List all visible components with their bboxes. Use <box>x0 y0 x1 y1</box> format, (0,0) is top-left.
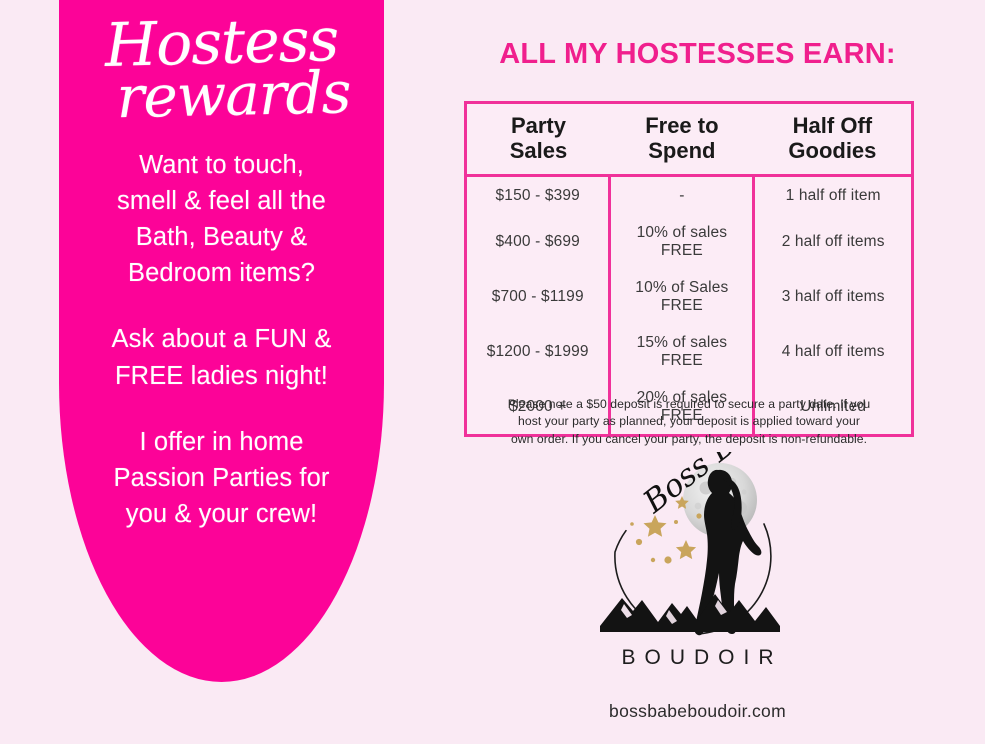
panel-paragraph-1-line-4: Bedroom items? <box>73 255 370 291</box>
earn-heading: ALL MY HOSTESSES EARN: <box>420 38 975 71</box>
panel-paragraph-3: I offer in home Passion Parties for you … <box>59 424 384 533</box>
pink-panel: Hostess rewards Want to touch, smell & f… <box>59 0 384 682</box>
table-row: $700 - $1199 10% of Sales FREE 3 half of… <box>467 269 911 324</box>
column-header-free-to-spend: Free to Spend <box>610 104 754 176</box>
column-header-free-to-spend-line2: Spend <box>612 138 752 163</box>
disclaimer-line-2: host your party as planned, your deposit… <box>458 413 920 430</box>
panel-paragraph-1: Want to touch, smell & feel all the Bath… <box>59 147 384 292</box>
cell-free-to-spend: - <box>610 176 754 215</box>
column-header-party-sales-line1: Party <box>469 113 608 138</box>
panel-paragraph-1-line-1: Want to touch, <box>73 147 370 183</box>
cell-half-off-goodies: 3 half off items <box>754 269 911 324</box>
logo-wordmark: BOUDOIR <box>420 646 975 670</box>
column-header-half-off-goodies-line1: Half Off <box>756 113 909 138</box>
table-row: $1200 - $1999 15% of sales FREE 4 half o… <box>467 324 911 379</box>
cell-party-sales: $150 - $399 <box>467 176 610 215</box>
table-row: $400 - $699 10% of sales FREE 2 half off… <box>467 214 911 269</box>
cell-free-to-spend: 10% of sales FREE <box>610 214 754 269</box>
hostess-rewards-poster: Hostess rewards Want to touch, smell & f… <box>0 0 985 744</box>
panel-paragraph-1-line-2: smell & feel all the <box>73 183 370 219</box>
right-column: ALL MY HOSTESSES EARN: Party Sales Free … <box>420 0 975 744</box>
disclaimer-line-1: Please note a $50 deposit is required to… <box>458 396 920 413</box>
cell-party-sales: $400 - $699 <box>467 214 610 269</box>
table-row: $150 - $399 - 1 half off item <box>467 176 911 215</box>
panel-paragraph-3-line-3: you & your crew! <box>73 496 370 532</box>
cell-half-off-goodies: 1 half off item <box>754 176 911 215</box>
cell-free-to-spend: 10% of Sales FREE <box>610 269 754 324</box>
panel-paragraph-3-line-2: Passion Parties for <box>73 460 370 496</box>
script-title-line2: rewards <box>70 66 384 126</box>
panel-paragraph-2: Ask about a FUN & FREE ladies night! <box>59 321 384 393</box>
cell-free-to-spend: 15% of sales FREE <box>610 324 754 379</box>
panel-paragraph-3-line-1: I offer in home <box>73 424 370 460</box>
disclaimer-line-3: own order. If you cancel your party, the… <box>458 431 920 448</box>
brand-logo: Boss Babe <box>568 452 808 677</box>
mountains-icon <box>600 594 780 632</box>
website-url: bossbabeboudoir.com <box>420 701 975 722</box>
table-header-row: Party Sales Free to Spend Half Off Goodi… <box>467 104 911 176</box>
disclaimer-text: Please note a $50 deposit is required to… <box>458 396 920 448</box>
column-header-half-off-goodies: Half Off Goodies <box>754 104 911 176</box>
column-header-party-sales-line2: Sales <box>469 138 608 163</box>
panel-paragraph-2-line-2: FREE ladies night! <box>73 358 370 394</box>
cell-party-sales: $1200 - $1999 <box>467 324 610 379</box>
column-header-party-sales: Party Sales <box>467 104 610 176</box>
cell-half-off-goodies: 2 half off items <box>754 214 911 269</box>
panel-body: Want to touch, smell & feel all the Bath… <box>59 147 384 533</box>
panel-paragraph-2-line-1: Ask about a FUN & <box>73 321 370 357</box>
script-title: Hostess rewards <box>59 0 384 123</box>
cell-half-off-goodies: 4 half off items <box>754 324 911 379</box>
cell-party-sales: $700 - $1199 <box>467 269 610 324</box>
column-header-half-off-goodies-line2: Goodies <box>756 138 909 163</box>
column-header-free-to-spend-line1: Free to <box>612 113 752 138</box>
panel-paragraph-1-line-3: Bath, Beauty & <box>73 219 370 255</box>
rewards-table: Party Sales Free to Spend Half Off Goodi… <box>464 101 914 437</box>
